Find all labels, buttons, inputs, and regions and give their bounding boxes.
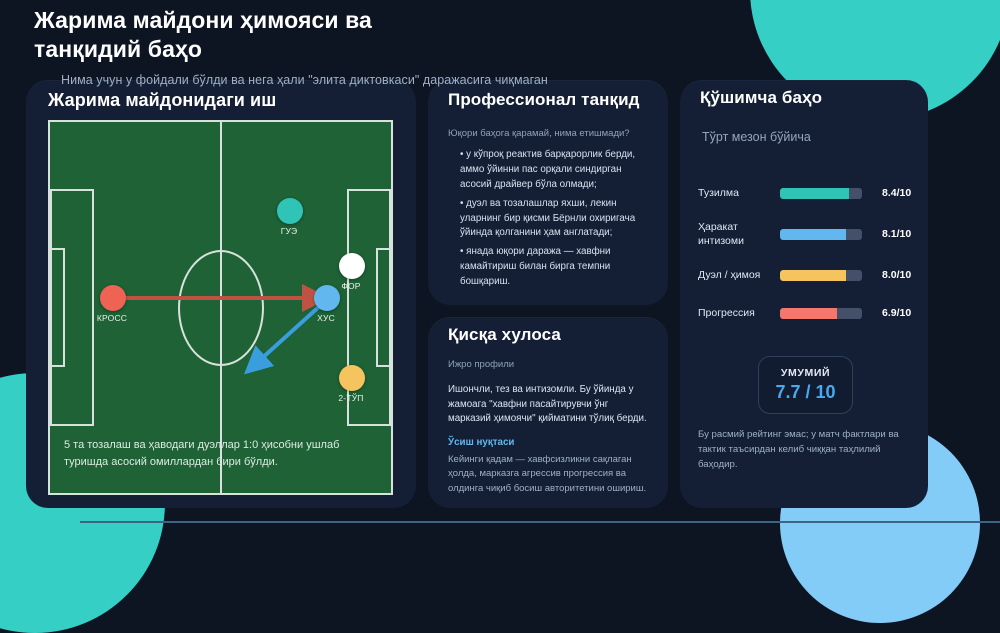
list-item: янада юқори даража — хавфни камайтириш б…	[460, 245, 654, 290]
rating-value: 8.4/10	[882, 187, 911, 199]
pitch-token-label-kross: КРОСС	[89, 314, 135, 324]
critique-card: Профессионал танқид Юқори баҳога қарамай…	[428, 80, 668, 305]
page-title-line-2: танқидий баҳо	[34, 36, 202, 62]
rating-bar-track	[780, 308, 862, 319]
summary-lead-text: Ижро профили	[448, 359, 514, 370]
rating-bar-fill	[780, 229, 846, 240]
rating-value: 6.9/10	[882, 307, 911, 319]
content-board: Жарима майдонидаги иш	[0, 80, 1000, 520]
page-subtitle: Нима учун у фойдали бўлди ва нега ҳали "…	[61, 73, 790, 87]
summary-growth-label: Ўсиш нуқтаси	[448, 437, 514, 448]
rating-bar-fill	[780, 270, 846, 281]
pitch-token-kross[interactable]	[100, 285, 126, 311]
rating-bar-track	[780, 188, 862, 199]
rating-row-structure: Тузилма 8.4/10	[698, 182, 914, 204]
page-title-line-1: Жарима майдони ҳимояси ва	[34, 7, 372, 33]
pitch-token-gue[interactable]	[277, 198, 303, 224]
rating-card: Қўшимча баҳо Тўрт мезон бўйича Тузилма 8…	[680, 80, 928, 508]
list-item: дуэл ва тозалашлар яхши, лекин уларнинг …	[460, 197, 654, 242]
critique-list: у кўпроқ реактив барқарорлик берди, аммо…	[448, 148, 654, 294]
rating-label: Прогрессия	[698, 306, 780, 320]
summary-card-title: Қисқа хулоса	[448, 325, 561, 345]
critique-card-title: Профессионал танқид	[448, 90, 640, 110]
rating-value: 8.0/10	[882, 269, 911, 281]
rating-bar-track	[780, 270, 862, 281]
rating-label: Ҳаракат интизоми	[698, 220, 780, 248]
list-item: у кўпроқ реактив барқарорлик берди, аммо…	[460, 148, 654, 193]
summary-body-text: Ишончли, тез ва интизомли. Бу ўйинда у ж…	[448, 383, 652, 427]
pitch-token-label-second-ball: 2-ТЎП	[328, 394, 374, 404]
rating-bar-fill	[780, 308, 837, 319]
football-pitch-diagram: КРОСС ГУЭ ХУС ФОР 2-ТЎП 5 та тозалаш ва …	[48, 120, 393, 495]
pitch-card: Жарима майдонидаги иш	[26, 80, 416, 508]
rating-lead-text: Тўрт мезон бўйича	[702, 130, 811, 144]
header: Жарима майдони ҳимояси ва танқидий баҳо …	[34, 6, 790, 87]
overall-score-value: 7.7 / 10	[775, 382, 835, 403]
summary-card: Қисқа хулоса Ижро профили Ишончли, тез в…	[428, 317, 668, 508]
rating-bar-track	[780, 229, 862, 240]
pitch-token-second-ball[interactable]	[339, 365, 365, 391]
rating-bar-fill	[780, 188, 849, 199]
rating-row-duel-defence: Дуэл / ҳимоя 8.0/10	[698, 264, 914, 286]
summary-growth-text: Кейинги қадам — хавфсизликни сақлаган ҳо…	[448, 453, 652, 496]
critique-lead-text: Юқори баҳога қарамай, нима етишмади?	[448, 128, 652, 139]
pitch-token-label-gue: ГУЭ	[266, 227, 312, 237]
rating-card-title: Қўшимча баҳо	[700, 88, 822, 108]
overall-score-badge: УМУМИЙ 7.7 / 10	[758, 356, 853, 414]
footer-divider-line	[80, 521, 1000, 523]
rating-label: Тузилма	[698, 186, 780, 200]
pitch-token-label-hus: ХУС	[303, 314, 349, 324]
rating-row-progression: Прогрессия 6.9/10	[698, 302, 914, 324]
page-title: Жарима майдони ҳимояси ва танқидий баҳо	[34, 6, 790, 65]
rating-footnote: Бу расмий рейтинг эмас; у матч фактлари …	[698, 428, 914, 473]
rating-label: Дуэл / ҳимоя	[698, 268, 780, 282]
rating-rows: Тузилма 8.4/10 Ҳаракат интизоми 8.1/10 Д…	[698, 182, 914, 340]
rating-value: 8.1/10	[882, 228, 911, 240]
pitch-card-title: Жарима майдонидаги иш	[48, 90, 276, 111]
rating-row-movement-discipline: Ҳаракат интизоми 8.1/10	[698, 220, 914, 248]
overall-score-label: УМУМИЙ	[781, 367, 830, 379]
pitch-caption: 5 та тозалаш ва ҳаводаги дуэллар 1:0 ҳис…	[64, 437, 377, 471]
pitch-token-for[interactable]	[339, 253, 365, 279]
pitch-token-label-for: ФОР	[328, 282, 374, 292]
